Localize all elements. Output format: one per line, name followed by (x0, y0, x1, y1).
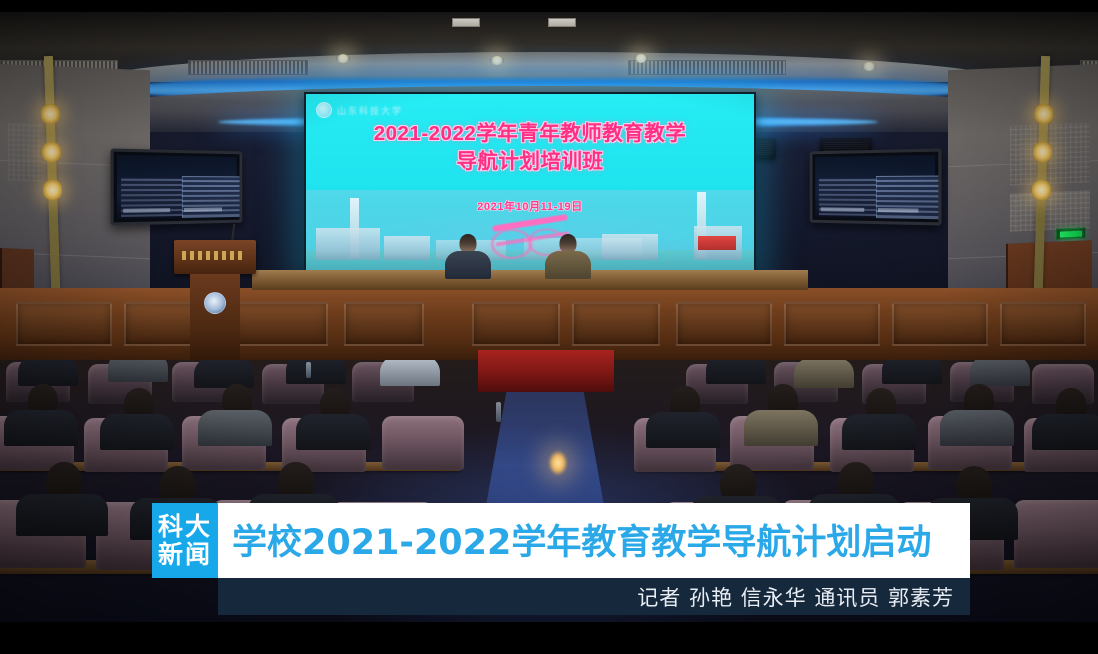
ceiling-downlight (634, 54, 648, 63)
slide-title-line1: 2021-2022学年青年教师教育教学 (306, 120, 754, 148)
acoustic-panel (8, 122, 42, 181)
left-wall-monitor (110, 148, 242, 225)
monitor-caption (878, 208, 918, 213)
slide-title-line2: 导航计划培训班 (306, 148, 754, 176)
badge-line-2: 新闻 (158, 541, 212, 568)
aisle-light-reflection (548, 450, 568, 476)
head-table (252, 270, 808, 290)
podium-seal-icon (204, 292, 226, 314)
nameplate (548, 18, 576, 27)
ceiling-vent (188, 60, 308, 75)
letterbox-top (0, 0, 1098, 12)
lower-third-graphic: 科大 新闻 学校2021-2022学年教育教学导航计划启动 记者 孙艳 信永华 … (152, 503, 970, 615)
news-brand-badge: 科大 新闻 (152, 503, 218, 578)
byline-text: 记者 孙艳 信永华 通讯员 郭素芳 (637, 582, 954, 612)
slide-logo-wordmark: 山东科技大学 (337, 104, 403, 117)
letterbox-bottom (0, 622, 1098, 654)
monitor-feed-stage (876, 176, 942, 220)
seated-presenter (540, 234, 596, 280)
wall-lamp (1034, 104, 1054, 125)
university-crest-icon (316, 102, 332, 118)
slide-red-banner (698, 236, 736, 250)
ceiling-downlight (336, 54, 350, 63)
seated-presenter (440, 234, 496, 280)
slide-university-logo: 山东科技大学 (316, 102, 403, 118)
ceiling-downlight (490, 56, 504, 65)
wall-lamp (1032, 180, 1052, 201)
stage-steps-carpet (478, 350, 614, 392)
byline-bar: 记者 孙艳 信永华 通讯员 郭素芳 (218, 578, 970, 615)
podium-top (174, 240, 256, 274)
wall-lamp (42, 142, 62, 163)
wall-lamp (43, 180, 63, 201)
nameplate (452, 18, 480, 27)
ceiling-downlight (862, 62, 876, 71)
monitor-caption (821, 207, 864, 212)
podium (174, 240, 256, 360)
headline-text: 学校2021-2022学年教育教学导航计划启动 (232, 514, 931, 565)
led-presentation-screen: 山东科技大学 2021-2022学年青年教师教育教学 导航计划培训班 2021年… (304, 92, 756, 278)
badge-line-1: 科大 (158, 513, 212, 540)
wall-lamp (40, 104, 60, 125)
headline-bar: 学校2021-2022学年教育教学导航计划启动 (218, 503, 970, 578)
slide-date: 2021年10月11-19日 (306, 198, 754, 214)
ceiling-vent (628, 60, 786, 75)
wall-lamp (1033, 142, 1053, 163)
podium-body (190, 274, 240, 360)
monitor-caption (123, 208, 170, 213)
acoustic-panel (1010, 190, 1090, 231)
video-frame: 山东科技大学 2021-2022学年青年教师教育教学 导航计划培训班 2021年… (0, 0, 1098, 654)
slide-title: 2021-2022学年青年教师教育教学 导航计划培训班 (306, 120, 754, 177)
exit-sign (1056, 228, 1086, 240)
right-wall-monitor (810, 148, 942, 225)
podium-engraved-text (182, 251, 244, 260)
monitor-caption (184, 207, 222, 211)
